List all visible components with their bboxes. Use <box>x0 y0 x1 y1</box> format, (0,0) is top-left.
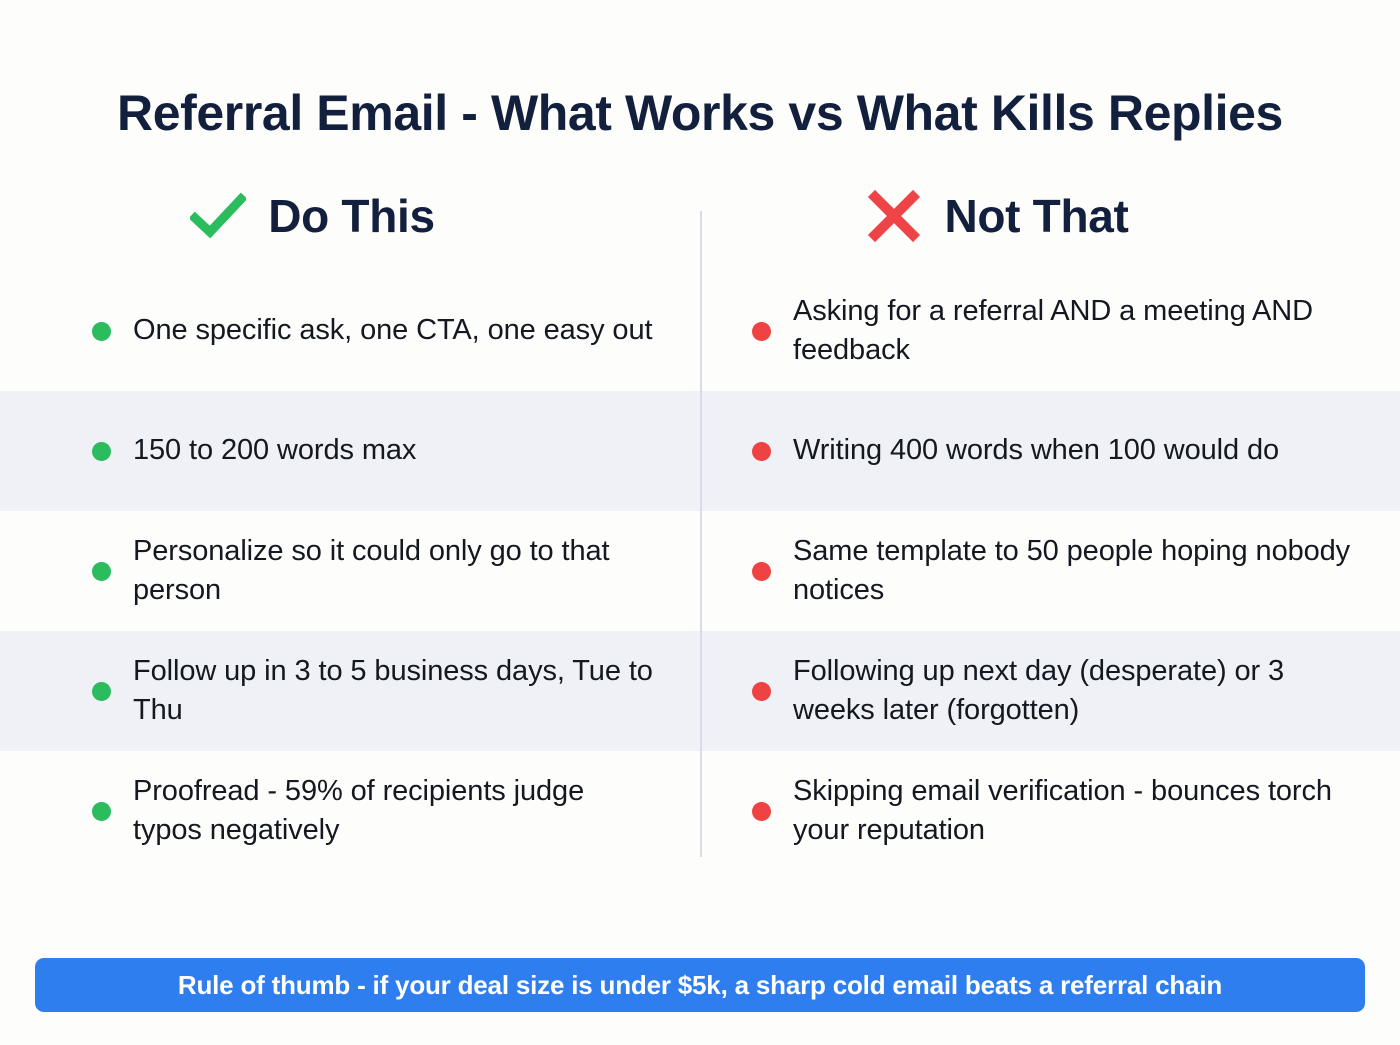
table-cell-do: 150 to 200 words max <box>0 391 700 511</box>
comparison-table: One specific ask, one CTA, one easy out … <box>0 271 1400 871</box>
bullet-good-icon <box>92 562 111 581</box>
column-header-label-right: Not That <box>944 189 1128 243</box>
cross-icon <box>866 188 922 244</box>
cell-text: 150 to 200 words max <box>133 431 416 470</box>
table-cell-do: One specific ask, one CTA, one easy out <box>0 271 700 391</box>
bullet-good-icon <box>92 802 111 821</box>
page-title: Referral Email - What Works vs What Kill… <box>0 0 1400 141</box>
cell-text: Skipping email verification - bounces to… <box>793 772 1370 850</box>
cell-text: Same template to 50 people hoping nobody… <box>793 532 1370 610</box>
table-cell-not: Asking for a referral AND a meeting AND … <box>700 271 1400 391</box>
table-cell-do: Follow up in 3 to 5 business days, Tue t… <box>0 631 700 751</box>
cell-text: Writing 400 words when 100 would do <box>793 431 1279 470</box>
cell-text: Proofread - 59% of recipients judge typo… <box>133 772 660 850</box>
table-cell-not: Writing 400 words when 100 would do <box>700 391 1400 511</box>
bullet-good-icon <box>92 682 111 701</box>
column-header-label-left: Do This <box>268 189 435 243</box>
infographic-page: Referral Email - What Works vs What Kill… <box>0 0 1400 1045</box>
cell-text: Personalize so it could only go to that … <box>133 532 660 610</box>
bullet-bad-icon <box>752 562 771 581</box>
cell-text: Follow up in 3 to 5 business days, Tue t… <box>133 652 660 730</box>
bullet-bad-icon <box>752 442 771 461</box>
table-cell-do: Proofread - 59% of recipients judge typo… <box>0 751 700 871</box>
cell-text: Asking for a referral AND a meeting AND … <box>793 292 1370 370</box>
column-header-not-that: Not That <box>685 177 1400 255</box>
bullet-bad-icon <box>752 322 771 341</box>
footer-banner-wrap: Rule of thumb - if your deal size is und… <box>0 958 1400 1012</box>
table-cell-do: Personalize so it could only go to that … <box>0 511 700 631</box>
column-header-do-this: Do This <box>0 177 685 255</box>
table-cell-not: Following up next day (desperate) or 3 w… <box>700 631 1400 751</box>
rule-of-thumb-text: Rule of thumb - if your deal size is und… <box>178 970 1222 1001</box>
column-divider <box>700 211 702 857</box>
check-icon <box>190 188 246 244</box>
bullet-good-icon <box>92 322 111 341</box>
bullet-good-icon <box>92 442 111 461</box>
bullet-bad-icon <box>752 802 771 821</box>
rule-of-thumb-banner: Rule of thumb - if your deal size is und… <box>35 958 1365 1012</box>
bullet-bad-icon <box>752 682 771 701</box>
cell-text: Following up next day (desperate) or 3 w… <box>793 652 1370 730</box>
cell-text: One specific ask, one CTA, one easy out <box>133 311 652 350</box>
table-cell-not: Skipping email verification - bounces to… <box>700 751 1400 871</box>
table-cell-not: Same template to 50 people hoping nobody… <box>700 511 1400 631</box>
